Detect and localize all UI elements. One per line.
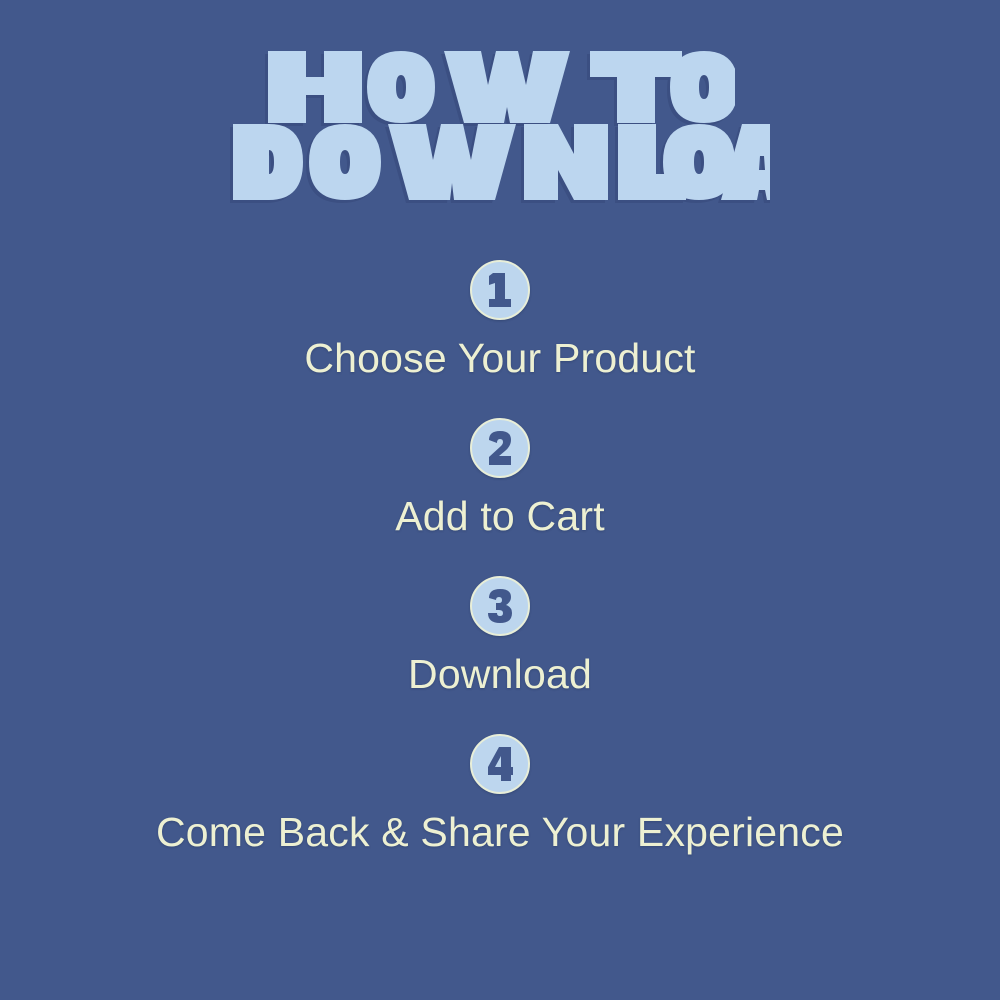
step-item: 1 Choose Your Product	[0, 260, 1000, 380]
step-label-2: Add to Cart	[395, 495, 605, 538]
step-number-badge-1: 1	[470, 260, 530, 320]
step-item: 4 Come Back & Share Your Experience	[0, 734, 1000, 854]
how-to-download-poster: HOW TO	[0, 0, 1000, 1000]
step-item: 3 Download	[0, 576, 1000, 696]
step-number-badge-3: 3	[470, 576, 530, 636]
step-item: 2 Add to Cart	[0, 418, 1000, 538]
steps-list: 1 Choose Your Product 2 Add to Cart	[0, 260, 1000, 854]
step-label-3: Download	[408, 653, 592, 696]
step-label-1: Choose Your Product	[304, 337, 695, 380]
step-number-badge-4: 4	[470, 734, 530, 794]
page-title: HOW TO	[0, 48, 1000, 204]
title-line-2: DOWNLOAD	[230, 120, 770, 204]
title-line-1: HOW TO	[265, 48, 735, 126]
step-number-badge-2: 2	[470, 418, 530, 478]
step-label-4: Come Back & Share Your Experience	[156, 811, 844, 854]
